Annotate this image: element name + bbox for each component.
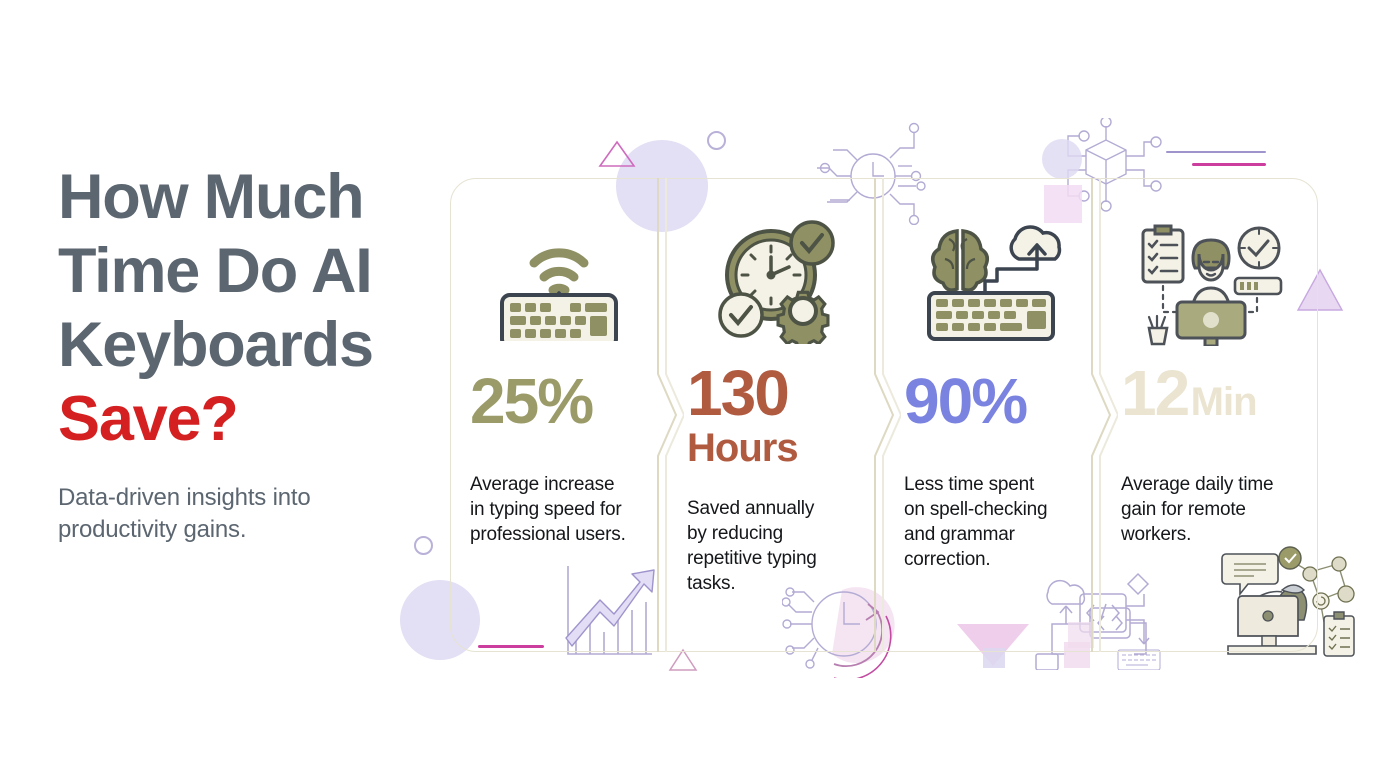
stat-column-1[interactable]: 25% Average increase in typing speed for…	[450, 178, 667, 652]
purple-circle-node-top-right	[1042, 139, 1082, 179]
headline-accent: Save?	[58, 384, 238, 454]
stat-number-4: 12	[1121, 357, 1188, 429]
subtitle-line-1: Data-driven insights into	[58, 484, 310, 511]
stat-description-4: Average daily time gain for remote worke…	[1121, 472, 1311, 547]
stat-description-3: Less time spent on spell-checking and gr…	[904, 472, 1094, 572]
stat-value-3: 90%	[904, 368, 1104, 434]
stat-column-2[interactable]: 130 Hours Saved annually by reducing rep…	[667, 178, 884, 652]
pink-triangle-outline-top	[598, 140, 636, 168]
headline-line-2: Time Do AI	[58, 236, 372, 306]
pink-line-top-right	[1192, 163, 1266, 166]
stat-value-4: 12 Min	[1121, 360, 1321, 426]
desc-line: on spell-checking	[904, 499, 1047, 520]
desc-line: Saved annually	[687, 498, 814, 519]
brain-cloud-keyboard-icon	[884, 206, 1101, 356]
clock-gear-check-icon	[667, 206, 884, 356]
page-headline: How Much Time Do AI Keyboards Save?	[58, 160, 428, 456]
title-block: How Much Time Do AI Keyboards Save? Data…	[58, 160, 428, 546]
desc-line: by reducing	[687, 523, 783, 544]
desc-line: and grammar	[904, 524, 1015, 545]
headline-line-1: How Much	[58, 162, 363, 232]
desc-line: Less time spent	[904, 474, 1034, 495]
infographic-canvas: How Much Time Do AI Keyboards Save? Data…	[0, 0, 1376, 768]
desc-line: Average daily time	[1121, 474, 1273, 495]
stats-columns: 25% Average increase in typing speed for…	[450, 178, 1318, 652]
stat-column-4[interactable]: 12 Min Average daily time gain for remot…	[1101, 178, 1318, 652]
desc-line: gain for remote	[1121, 499, 1246, 520]
stat-unit-4: Min	[1191, 380, 1257, 424]
page-subtitle: Data-driven insights into productivity g…	[58, 482, 428, 546]
stat-number-1: 25%	[470, 368, 670, 434]
purple-line-top-right	[1166, 151, 1266, 153]
stat-number-3: 90%	[904, 368, 1104, 434]
remote-worker-desk-icon	[1101, 206, 1318, 356]
desc-line: repetitive typing	[687, 548, 817, 569]
desc-line: tasks.	[687, 573, 735, 594]
stat-unit-2: Hours	[687, 426, 798, 470]
purple-ring-small-top	[707, 131, 726, 150]
stat-description-1: Average increase in typing speed for pro…	[470, 472, 660, 547]
headline-line-3: Keyboards	[58, 310, 373, 380]
subtitle-line-2: productivity gains.	[58, 516, 246, 543]
keyboard-wifi-upload-icon	[450, 206, 667, 356]
desc-line: in typing speed for	[470, 499, 621, 520]
stat-column-3[interactable]: 90% Less time spent on spell-checking an…	[884, 178, 1101, 652]
desc-line: correction.	[904, 549, 991, 570]
stat-value-2: 130 Hours	[687, 360, 887, 470]
stat-value-1: 25%	[470, 368, 670, 434]
stat-description-2: Saved annually by reducing repetitive ty…	[687, 496, 877, 596]
desc-line: professional users.	[470, 524, 626, 545]
stat-number-2: 130	[687, 360, 887, 426]
desc-line: Average increase	[470, 474, 614, 495]
desc-line: workers.	[1121, 524, 1191, 545]
